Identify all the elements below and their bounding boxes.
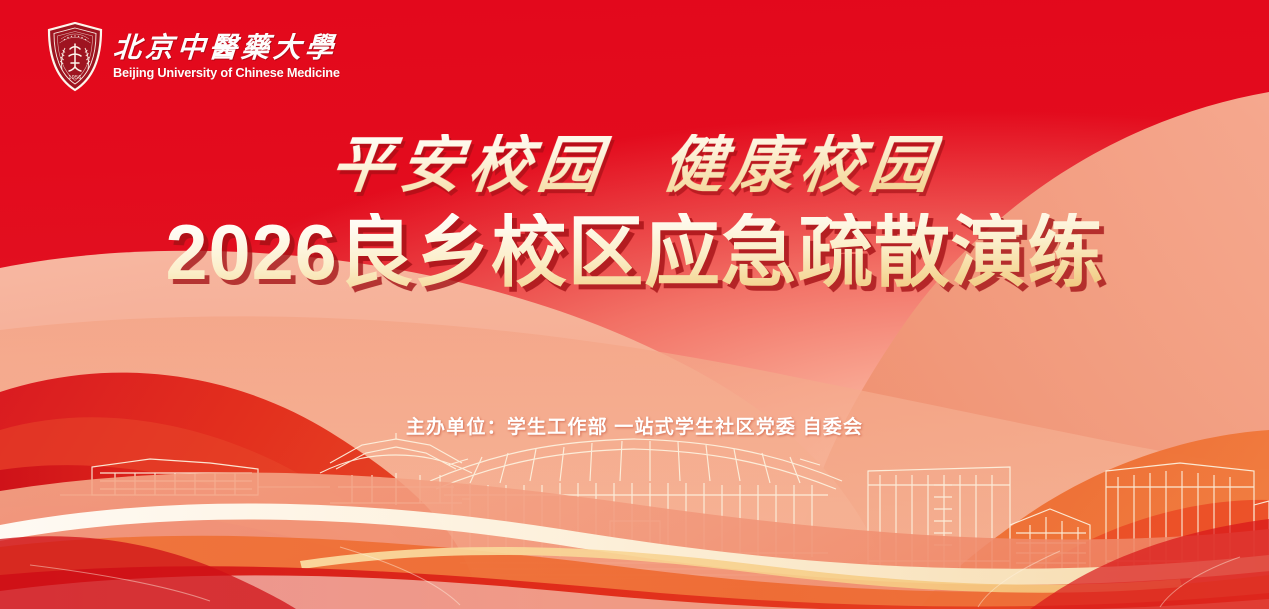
organizer-line: 主办单位：学生工作部 一站式学生社区党委 自委会 xyxy=(0,412,1269,439)
logo-name-cn: 北京中醫藥大學 xyxy=(112,34,338,64)
shield-year-text: 1956 xyxy=(68,75,81,81)
headline-block: 平安校园 健康校园 2026良乡校区应急疏散演练 xyxy=(0,134,1269,293)
slogan-spacer xyxy=(603,132,667,200)
logo-name-en: Beijing University of Chinese Medicine xyxy=(113,66,341,80)
slogan-part2: 健康校园 xyxy=(658,132,942,200)
slogan-part1: 平安校园 xyxy=(327,132,611,200)
slogan-line: 平安校园 健康校园 xyxy=(327,134,943,199)
shield-emblem-icon: 1956 xyxy=(46,22,104,92)
logo-wordmark: 北京中醫藥大學 Beijing University of Chinese Me… xyxy=(113,34,337,79)
university-logo: 1956 北京中醫藥大學 Beijing University of Chine… xyxy=(46,22,337,92)
event-banner: 1956 北京中醫藥大學 Beijing University of Chine… xyxy=(0,0,1269,609)
event-title: 2026良乡校区应急疏散演练 xyxy=(165,213,1104,293)
